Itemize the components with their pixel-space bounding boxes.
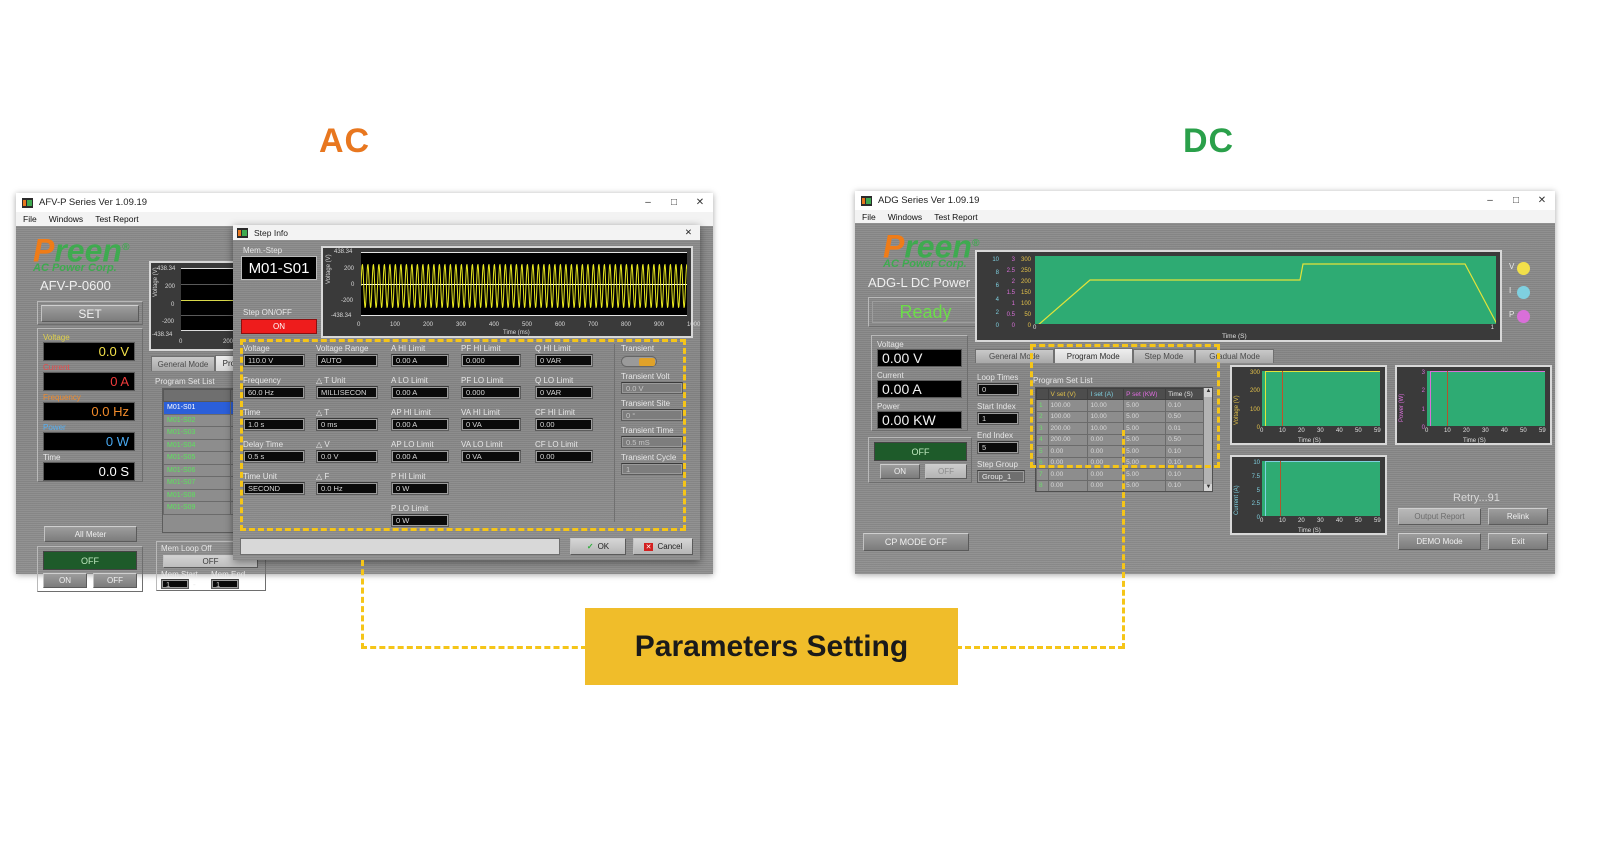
dc-application-window: ADG Series Ver 1.09.19 – □ ✕ File Window… bbox=[855, 191, 1555, 574]
legend-dot-icon bbox=[1517, 310, 1530, 323]
step-ytick-0: 438.34 bbox=[334, 249, 352, 255]
menu-test-report[interactable]: Test Report bbox=[95, 214, 138, 224]
menu-file[interactable]: File bbox=[862, 212, 876, 222]
sub-chart-1-xtick-4: 40 bbox=[1501, 428, 1508, 434]
table-row[interactable]: 80.000.005.000.10 bbox=[1037, 480, 1204, 492]
ac-meter-value-0: 0.0 V bbox=[43, 342, 135, 361]
step-xtick-8: 800 bbox=[621, 322, 631, 328]
app-icon bbox=[22, 198, 33, 208]
sub-chart-0-xtick-6: 59 bbox=[1374, 428, 1381, 434]
ac-connector-horizontal bbox=[361, 646, 587, 649]
dc-main-axis_v-tick-3: 150 bbox=[1011, 290, 1031, 296]
step-onoff-label: Step ON/OFF bbox=[243, 308, 292, 317]
ac-output-on-button[interactable]: ON bbox=[43, 573, 87, 588]
dc-cell-p: 5.00 bbox=[1124, 480, 1166, 492]
start-index-label: Start Index bbox=[977, 402, 1016, 411]
dc-current-xlabel: Time (S) bbox=[1298, 528, 1321, 534]
sub-chart-2-xtick-6: 59 bbox=[1374, 518, 1381, 524]
dc-power-plot bbox=[1427, 371, 1545, 426]
dc-voltage-chart: Voltage (V) 3002001000 0102030405059 Tim… bbox=[1230, 365, 1387, 445]
sub-chart-2-xtick-4: 40 bbox=[1336, 518, 1343, 524]
start-index-input[interactable]: 1 bbox=[977, 412, 1019, 425]
sub-chart-1-xtick-2: 20 bbox=[1463, 428, 1470, 434]
dc-connector-horizontal bbox=[956, 646, 1124, 649]
sub-chart-2-xtick-3: 30 bbox=[1317, 518, 1324, 524]
sub-chart-0-xtick-3: 30 bbox=[1317, 428, 1324, 434]
mem-start-label: Mem Start bbox=[161, 570, 198, 579]
dc-cell-t: 0.10 bbox=[1166, 480, 1204, 492]
dc-window-title: ADG Series Ver 1.09.19 bbox=[878, 195, 979, 206]
dc-model-name: ADG-L DC Power bbox=[868, 275, 970, 290]
step-xtick-9: 900 bbox=[654, 322, 664, 328]
sub-chart-0-ytick-1: 200 bbox=[1240, 388, 1260, 394]
sub-chart-1-xtick-6: 59 bbox=[1539, 428, 1546, 434]
step-info-titlebar: Step Info ✕ bbox=[233, 225, 700, 240]
ac-connector-vertical bbox=[361, 560, 364, 649]
sub-chart-2-ytick-0: 10 bbox=[1240, 460, 1260, 466]
dc-main-axis_v-tick-4: 100 bbox=[1011, 301, 1031, 307]
ac-cell-step: M01-S09 bbox=[164, 502, 231, 515]
loop-times-input[interactable]: 0 bbox=[977, 383, 1019, 396]
dc-main-axis_v-tick-0: 300 bbox=[1011, 257, 1031, 263]
dc-cell-t: 0.10 bbox=[1166, 469, 1204, 481]
ac-parameters-highlight bbox=[240, 339, 686, 531]
step-scope-plot bbox=[361, 252, 687, 316]
step-scope-ylabel: Voltage (V) bbox=[326, 254, 332, 284]
dc-voltage-xlabel: Time (S) bbox=[1298, 438, 1321, 444]
dc-main-plot bbox=[1035, 256, 1496, 324]
sub-chart-1-xtick-5: 50 bbox=[1520, 428, 1527, 434]
maximize-button[interactable]: □ bbox=[661, 193, 687, 212]
ac-meter-value-3: 0 W bbox=[43, 432, 135, 451]
ac-output-off-button[interactable]: OFF bbox=[93, 573, 137, 588]
set-button[interactable]: SET bbox=[41, 305, 139, 322]
sub-chart-0-ytick-3: 0 bbox=[1240, 425, 1260, 431]
ac-cell-step: M01-S02 bbox=[164, 414, 231, 427]
mem-start-input[interactable]: 1 bbox=[161, 579, 189, 589]
dc-parameters-highlight bbox=[1030, 344, 1220, 468]
dc-status-display: Ready bbox=[872, 301, 979, 323]
ac-meter-label-4: Time bbox=[43, 453, 60, 462]
mem-step-value: M01-S01 bbox=[241, 256, 317, 280]
sub-chart-2-ytick-3: 2.5 bbox=[1240, 501, 1260, 507]
tab-general-mode[interactable]: General Mode bbox=[151, 356, 215, 371]
dc-power-chart: Power (W) 3210 0102030405059 Time (S) bbox=[1395, 365, 1552, 445]
sub-chart-0-xtick-1: 10 bbox=[1279, 428, 1286, 434]
ac-cell-step: M01-S01 bbox=[164, 402, 231, 415]
dc-meter-label-2: Power bbox=[877, 402, 900, 411]
step-group-select[interactable]: Group_1 bbox=[977, 470, 1025, 483]
dc-current-chart: Current (A) 107.552.50 0102030405059 Tim… bbox=[1230, 455, 1387, 535]
dc-meter-value-0: 0.00 V bbox=[877, 349, 962, 367]
check-icon: ✓ bbox=[587, 542, 594, 551]
dc-main-chart: 108642032.521.510.50300250200150100500 0… bbox=[975, 250, 1502, 342]
ac-scope-xtick-1: 200 bbox=[223, 339, 233, 345]
step-ytick-3: -200 bbox=[341, 298, 353, 304]
ac-scope-ytick-0: 438.34 bbox=[157, 266, 175, 272]
status-bar bbox=[240, 538, 560, 555]
ac-scope-ytick-2: 0 bbox=[171, 302, 174, 308]
dc-voltage-plot bbox=[1262, 371, 1380, 426]
dc-meter-label-0: Voltage bbox=[877, 340, 904, 349]
logo-subtitle: AC Power Corp. bbox=[883, 258, 979, 270]
ac-cell-step: M01-S06 bbox=[164, 464, 231, 477]
ac-scope-ytick-3: -200 bbox=[162, 319, 174, 325]
sub-chart-2-xtick-0: 0 bbox=[1260, 518, 1263, 524]
close-icon[interactable]: ✕ bbox=[685, 227, 696, 238]
step-xtick-5: 500 bbox=[522, 322, 532, 328]
step-onoff-button[interactable]: ON bbox=[241, 319, 317, 334]
ac-meter-label-1: Current bbox=[43, 363, 70, 372]
menu-test-report[interactable]: Test Report bbox=[934, 212, 977, 222]
ac-model-name: AFV-P-0600 bbox=[40, 278, 111, 293]
logo-registered: ® bbox=[972, 238, 979, 249]
mem-end-input[interactable]: 1 bbox=[211, 579, 239, 589]
scroll-down-arrow[interactable]: ▼ bbox=[1204, 484, 1213, 492]
end-index-label: End Index bbox=[977, 431, 1013, 440]
step-xtick-3: 300 bbox=[456, 322, 466, 328]
ac-meter-label-0: Voltage bbox=[43, 333, 70, 342]
legend-label-V: V bbox=[1509, 262, 1514, 271]
dc-menubar: File Windows Test Report bbox=[855, 210, 1555, 224]
dc-meter-value-2: 0.00 KW bbox=[877, 411, 962, 429]
ac-scope-xtick-0: 0 bbox=[179, 339, 182, 345]
dc-output-on-button[interactable]: ON bbox=[880, 464, 920, 479]
step-xtick-1: 100 bbox=[390, 322, 400, 328]
dc-cell-v: 0.00 bbox=[1048, 480, 1088, 492]
sub-chart-0-ytick-2: 100 bbox=[1240, 407, 1260, 413]
sub-chart-0-xtick-2: 20 bbox=[1298, 428, 1305, 434]
ac-window-titlebar: AFV-P Series Ver 1.09.19 – □ ✕ bbox=[16, 193, 713, 212]
dc-cell-a: 0.00 bbox=[1088, 480, 1124, 492]
ac-menubar: File Windows Test Report bbox=[16, 212, 713, 226]
dc-main-axis_v-tick-6: 0 bbox=[1011, 323, 1031, 329]
sub-chart-2-xtick-5: 50 bbox=[1355, 518, 1362, 524]
dc-output-off-button[interactable]: OFF bbox=[925, 464, 967, 479]
ac-program-set-list-label: Program Set List bbox=[155, 377, 215, 386]
sub-chart-1-xtick-3: 30 bbox=[1482, 428, 1489, 434]
legend-label-P: P bbox=[1509, 310, 1514, 319]
exit-button[interactable]: Exit bbox=[1488, 533, 1548, 550]
ac-meter-value-2: 0.0 Hz bbox=[43, 402, 135, 421]
banner-label: Parameters Setting bbox=[635, 630, 908, 664]
ok-button[interactable]: ✓ OK bbox=[570, 538, 626, 555]
sub-chart-0-ytick-0: 300 bbox=[1240, 370, 1260, 376]
legend-dot-icon bbox=[1517, 262, 1530, 275]
dc-cell-i: 7 bbox=[1037, 469, 1049, 481]
dc-main-axis_v-tick-2: 200 bbox=[1011, 279, 1031, 285]
relink-button[interactable]: Relink bbox=[1488, 508, 1548, 525]
dc-main-xtick-1: 1 bbox=[1491, 325, 1494, 331]
dc-main-xlabel: Time (S) bbox=[1222, 333, 1247, 340]
sub-chart-2-ytick-1: 7.5 bbox=[1240, 474, 1260, 480]
cancel-button-label: Cancel bbox=[657, 542, 682, 551]
close-button[interactable]: ✕ bbox=[1529, 191, 1555, 210]
ac-meter-value-4: 0.0 S bbox=[43, 462, 135, 481]
all-meter-button[interactable]: All Meter bbox=[44, 526, 137, 542]
loop-times-label: Loop Times bbox=[977, 373, 1018, 382]
logo-subtitle: AC Power Corp. bbox=[33, 262, 129, 274]
cancel-button[interactable]: ✕ Cancel bbox=[633, 538, 693, 555]
app-icon bbox=[237, 228, 248, 238]
mem-loop-label: Mem Loop Off bbox=[161, 544, 212, 553]
ac-cell-step: M01-S08 bbox=[164, 489, 231, 502]
ac-scope-ytick-4: -438.34 bbox=[152, 332, 172, 338]
sub-chart-1-ytick-1: 2 bbox=[1405, 388, 1425, 394]
sub-chart-1-ytick-0: 3 bbox=[1405, 370, 1425, 376]
ac-col-header-0 bbox=[164, 390, 231, 402]
dc-meter-value-1: 0.00 A bbox=[877, 380, 962, 398]
dc-main-axis_v-tick-1: 250 bbox=[1011, 268, 1031, 274]
mem-step-label: Mem.-Step bbox=[243, 246, 282, 255]
menu-windows[interactable]: Windows bbox=[49, 214, 83, 224]
legend-label-I: I bbox=[1509, 286, 1511, 295]
step-scope-xlabel: Time (ms) bbox=[503, 330, 530, 336]
logo-registered: ® bbox=[122, 242, 129, 253]
demo-mode-button[interactable]: DEMO Mode bbox=[1398, 533, 1481, 550]
ac-section-heading: AC bbox=[319, 122, 370, 161]
dc-section-heading: DC bbox=[1183, 122, 1234, 161]
sub-chart-2-ytick-4: 0 bbox=[1240, 515, 1260, 521]
table-row[interactable]: 70.000.005.000.10 bbox=[1037, 469, 1204, 481]
dc-window-titlebar: ADG Series Ver 1.09.19 – □ ✕ bbox=[855, 191, 1555, 210]
step-xtick-0: 0 bbox=[357, 322, 360, 328]
dc-main-trace bbox=[1035, 256, 1496, 324]
minimize-button[interactable]: – bbox=[1477, 191, 1503, 210]
ac-window-title: AFV-P Series Ver 1.09.19 bbox=[39, 197, 147, 208]
dc-meter-label-1: Current bbox=[877, 371, 904, 380]
sine-waveform bbox=[361, 252, 687, 316]
sub-chart-2-ytick-2: 5 bbox=[1240, 488, 1260, 494]
dc-cell-i: 8 bbox=[1037, 480, 1049, 492]
step-xtick-10: 1000 bbox=[687, 322, 700, 328]
step-info-scope: Voltage (V) 438.34 200 0 -200 -438.34 01… bbox=[321, 246, 693, 338]
maximize-button[interactable]: □ bbox=[1503, 191, 1529, 210]
ac-scope-ytick-1: 200 bbox=[165, 284, 175, 290]
ac-cell-step: M01-S05 bbox=[164, 452, 231, 465]
sub-chart-0-xtick-4: 40 bbox=[1336, 428, 1343, 434]
cp-mode-button[interactable]: CP MODE OFF bbox=[863, 533, 969, 551]
dc-cell-p: 5.00 bbox=[1124, 469, 1166, 481]
dc-power-xlabel: Time (S) bbox=[1463, 438, 1486, 444]
ok-button-label: OK bbox=[598, 542, 610, 551]
sub-chart-1-ytick-3: 0 bbox=[1405, 425, 1425, 431]
close-x-icon: ✕ bbox=[644, 543, 654, 551]
minimize-button[interactable]: – bbox=[635, 193, 661, 212]
dc-connector-vertical bbox=[1122, 430, 1125, 649]
step-ytick-2: 0 bbox=[351, 282, 354, 288]
retry-status: Retry...91 bbox=[1453, 492, 1500, 504]
ac-cell-step: M01-S03 bbox=[164, 427, 231, 440]
ac-output-status: OFF bbox=[43, 551, 137, 570]
step-xtick-4: 400 bbox=[489, 322, 499, 328]
parameters-setting-banner: Parameters Setting bbox=[585, 608, 958, 685]
menu-windows[interactable]: Windows bbox=[888, 212, 922, 222]
step-ytick-1: 200 bbox=[344, 266, 354, 272]
ac-cell-step: M01-S07 bbox=[164, 477, 231, 490]
sub-chart-1-xtick-0: 0 bbox=[1425, 428, 1428, 434]
sub-chart-2-xtick-1: 10 bbox=[1279, 518, 1286, 524]
ac-meter-label-3: Power bbox=[43, 423, 66, 432]
mem-range-dash: - bbox=[193, 580, 196, 589]
ac-meter-label-2: Frequency bbox=[43, 393, 81, 402]
ac-meter-value-1: 0 A bbox=[43, 372, 135, 391]
step-info-title: Step Info bbox=[254, 228, 288, 238]
ac-cell-step: M01-S04 bbox=[164, 439, 231, 452]
output-report-button[interactable]: Output Report bbox=[1398, 508, 1481, 525]
step-xtick-2: 200 bbox=[423, 322, 433, 328]
end-index-input[interactable]: 5 bbox=[977, 441, 1019, 454]
dc-cell-a: 0.00 bbox=[1088, 469, 1124, 481]
step-info-dialog: Step Info ✕ Mem.-Step M01-S01 Step ON/OF… bbox=[233, 225, 700, 560]
sub-chart-2-xtick-2: 20 bbox=[1298, 518, 1305, 524]
app-icon bbox=[861, 196, 872, 206]
sub-chart-0-xtick-0: 0 bbox=[1260, 428, 1263, 434]
sub-chart-0-xtick-5: 50 bbox=[1355, 428, 1362, 434]
step-xtick-7: 700 bbox=[588, 322, 598, 328]
close-button[interactable]: ✕ bbox=[687, 193, 713, 212]
sub-chart-1-xtick-1: 10 bbox=[1444, 428, 1451, 434]
dc-main-axis_v-tick-5: 50 bbox=[1011, 312, 1031, 318]
dc-current-plot bbox=[1262, 461, 1380, 516]
dc-output-status: OFF bbox=[874, 442, 967, 461]
legend-dot-icon bbox=[1517, 286, 1530, 299]
sub-chart-1-ytick-2: 1 bbox=[1405, 407, 1425, 413]
mem-end-label: Mem End bbox=[211, 570, 245, 579]
menu-file[interactable]: File bbox=[23, 214, 37, 224]
step-ytick-4: -438.34 bbox=[331, 313, 351, 319]
step-group-label: Step Group bbox=[977, 460, 1018, 469]
dc-cell-v: 0.00 bbox=[1048, 469, 1088, 481]
dc-main-xtick-0: 0 bbox=[1033, 325, 1036, 331]
step-xtick-6: 600 bbox=[555, 322, 565, 328]
